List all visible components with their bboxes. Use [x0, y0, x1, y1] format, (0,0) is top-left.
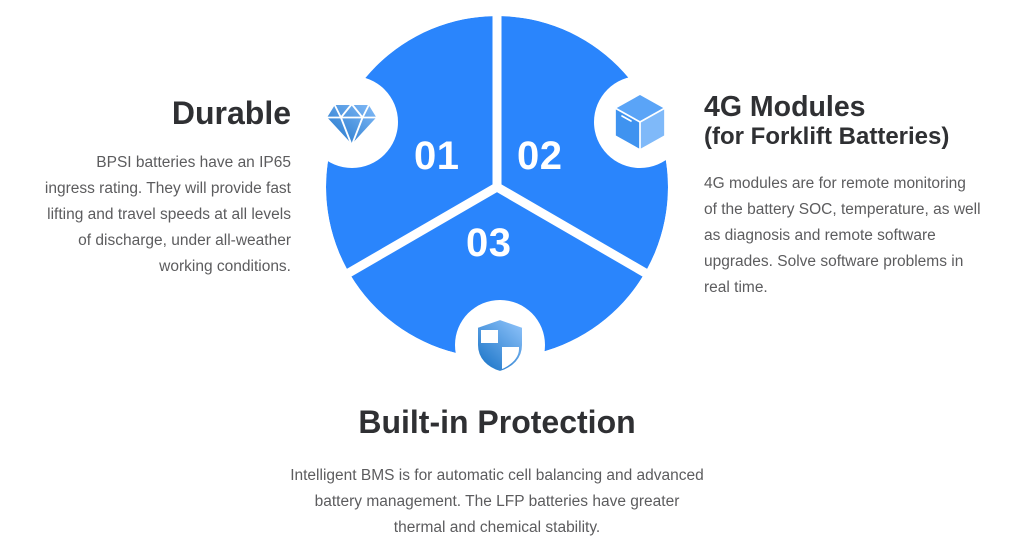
modules-4g-title: 4G Modules (for Forklift Batteries) [704, 92, 1016, 151]
wheel-segments [326, 16, 668, 358]
durable-body-line-4: of discharge, under all-weather [8, 228, 291, 254]
durable-body-line-3: lifting and travel speeds at all levels [8, 202, 291, 228]
modules-4g-body-line-5: real time. [704, 275, 1016, 301]
durable-title: Durable [8, 96, 291, 132]
feature-block-4g-modules: 4G Modules (for Forklift Batteries) 4G m… [704, 92, 1016, 301]
segment-number-01: 01 [414, 136, 460, 176]
shield-icon [477, 319, 523, 372]
built-in-protection-body: Intelligent BMS is for automatic cell ba… [212, 463, 782, 541]
feature-block-durable: Durable BPSI batteries have an IP65 ingr… [8, 96, 291, 280]
segment-number-02: 02 [517, 136, 563, 176]
durable-body-line-1: BPSI batteries have an IP65 [8, 150, 291, 176]
durable-body-line-5: working conditions. [8, 254, 291, 280]
modules-4g-body-line-3: as diagnosis and remote software [704, 223, 1016, 249]
modules-4g-body-line-1: 4G modules are for remote monitoring [704, 171, 1016, 197]
feature-block-built-in-protection: Built-in Protection Intelligent BMS is f… [212, 405, 782, 541]
built-in-protection-body-line-2: battery management. The LFP batteries ha… [212, 489, 782, 515]
durable-body: BPSI batteries have an IP65 ingress rati… [8, 150, 291, 280]
built-in-protection-title: Built-in Protection [212, 405, 782, 441]
durable-body-line-2: ingress rating. They will provide fast [8, 176, 291, 202]
modules-4g-title-line-1: 4G Modules [704, 91, 866, 123]
infographic-canvas: 01 02 03 Durable BPSI batteries have an … [0, 0, 1024, 554]
built-in-protection-body-line-1: Intelligent BMS is for automatic cell ba… [212, 463, 782, 489]
modules-4g-body: 4G modules are for remote monitoring of … [704, 171, 1016, 301]
modules-4g-title-line-2: (for Forklift Batteries) [704, 124, 1016, 151]
built-in-protection-body-line-3: thermal and chemical stability. [212, 515, 782, 541]
segmented-circle-diagram: 01 02 03 [311, 1, 683, 391]
modules-4g-body-line-4: upgrades. Solve software problems in [704, 249, 1016, 275]
modules-4g-body-line-2: of the battery SOC, temperature, as well [704, 197, 1016, 223]
segment-number-03: 03 [466, 223, 512, 263]
